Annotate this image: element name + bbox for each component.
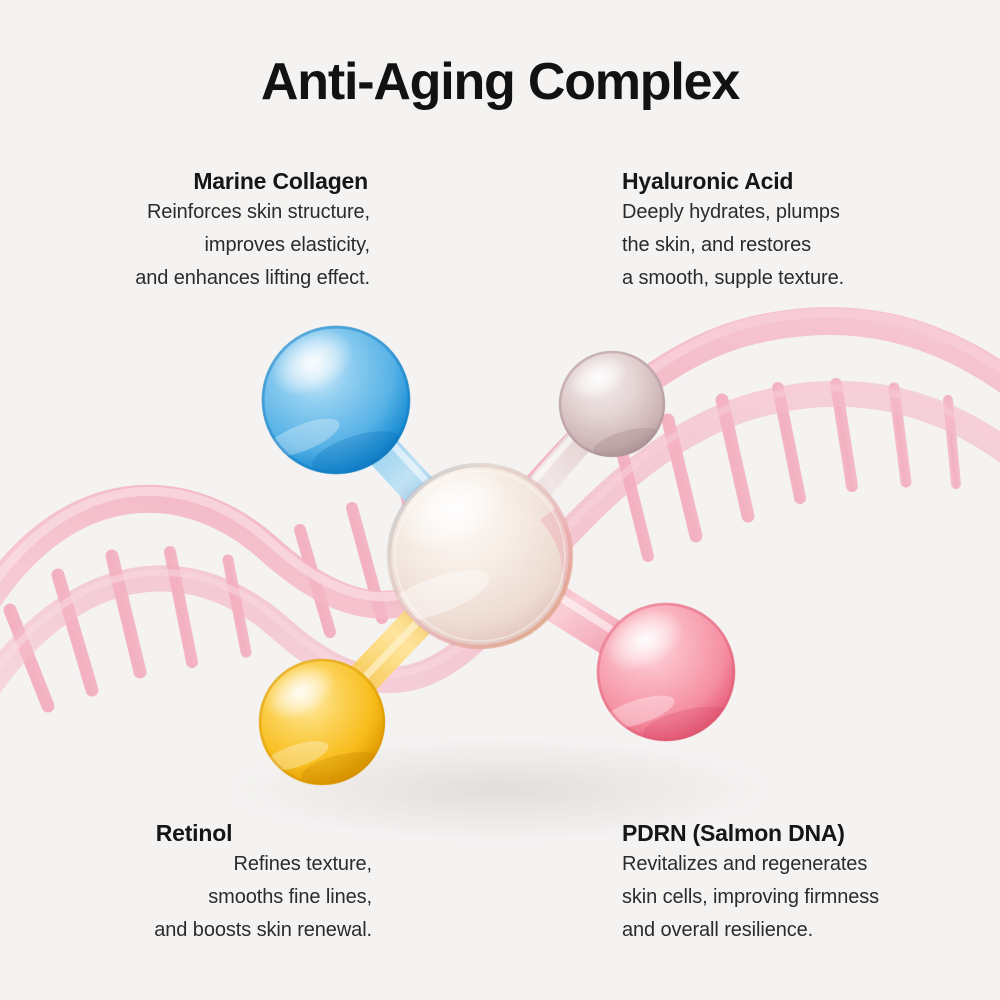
- ingredient-block-marine-collagen: Marine Collagen Reinforces skin structur…: [40, 166, 370, 295]
- ingredient-name-pdrn: PDRN (Salmon DNA): [622, 818, 972, 848]
- ingredient-name-marine-collagen: Marine Collagen: [40, 166, 370, 196]
- page-title: Anti-Aging Complex: [0, 52, 1000, 112]
- ingredient-desc-line: and enhances lifting effect.: [40, 262, 370, 295]
- retinol-sphere: [255, 653, 385, 790]
- ingredient-desc-line: and boosts skin renewal.: [40, 914, 372, 947]
- ingredient-block-retinol: Retinol Refines texture, smooths fine li…: [40, 818, 372, 947]
- ingredient-desc-line: improves elasticity,: [40, 229, 370, 262]
- marine-collagen-sphere: [259, 315, 410, 482]
- bond-pdrn: [480, 550, 666, 672]
- bond-hyaluronic: [476, 398, 612, 556]
- ingredient-desc-line: Reinforces skin structure,: [40, 196, 370, 229]
- ingredient-desc-line: skin cells, improving firmness: [622, 881, 972, 914]
- ingredient-desc-line: Refines texture,: [40, 848, 372, 881]
- ingredient-name-hyaluronic-acid: Hyaluronic Acid: [622, 166, 962, 196]
- ingredient-block-pdrn: PDRN (Salmon DNA) Revitalizes and regene…: [622, 818, 972, 947]
- ingredient-desc-line: a smooth, supple texture.: [622, 262, 962, 295]
- product-infographic: Anti-Aging Complex Marine Collagen Reinf…: [0, 0, 1000, 1000]
- ingredient-name-retinol: Retinol: [40, 818, 372, 848]
- bond-collagen: [336, 392, 486, 556]
- ingredient-desc-line: Deeply hydrates, plumps: [622, 196, 962, 229]
- pdrn-sphere: [594, 596, 735, 748]
- bond-retinol: [322, 550, 486, 722]
- ingredient-desc-line: the skin, and restores: [622, 229, 962, 262]
- ingredient-desc-line: smooths fine lines,: [40, 881, 372, 914]
- ingredient-desc-line: and overall resilience.: [622, 914, 972, 947]
- ingredient-block-hyaluronic-acid: Hyaluronic Acid Deeply hydrates, plumps …: [622, 166, 962, 295]
- ingredient-desc-line: Revitalizes and regenerates: [622, 848, 972, 881]
- molecule-bonds: [322, 392, 666, 722]
- hyaluronic-acid-sphere: [559, 346, 665, 462]
- dna-helix-graphic: [0, 313, 1000, 706]
- central-core-sphere: [377, 448, 577, 667]
